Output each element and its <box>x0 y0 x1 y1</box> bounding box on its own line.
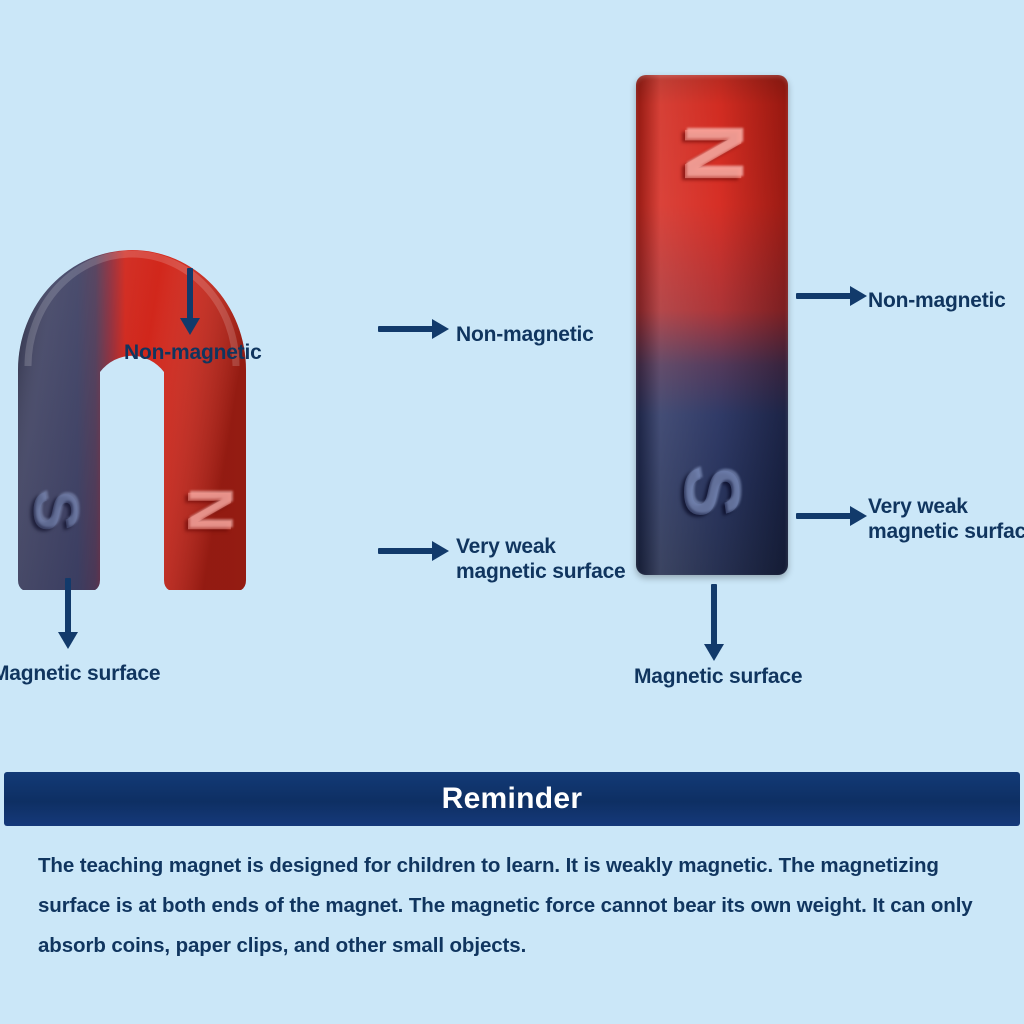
arrow-right-horseshoe-north-tip <box>378 540 450 562</box>
arrow-right-bar-upper <box>796 285 868 307</box>
label-horseshoe-inner-arch: Non-magnetic <box>124 340 262 365</box>
arrow-down-horseshoe-inner <box>170 268 210 336</box>
arrow-right-bar-lower <box>796 505 868 527</box>
horseshoe-south-letter: S <box>23 471 85 551</box>
label-bar-bottom: Magnetic surface <box>634 664 802 689</box>
arrow-down-bar-bottom <box>694 584 734 664</box>
label-horseshoe-north-tip: Very weak magnetic surface <box>456 534 626 584</box>
arrow-right-horseshoe-outer <box>378 318 450 340</box>
label-horseshoe-outer-side: Non-magnetic <box>456 322 594 347</box>
magnet-product-infographic: S N Non-magnetic Non-magnetic Very weak … <box>0 0 1024 1024</box>
reminder-body-text: The teaching magnet is designed for chil… <box>38 846 988 966</box>
bar-magnet-south-letter: S <box>673 434 751 550</box>
label-bar-side-lower: Very weak magnetic surface <box>868 494 1024 544</box>
horseshoe-magnet: S N <box>8 160 388 590</box>
label-bar-side-upper: Non-magnetic <box>868 288 1006 313</box>
horseshoe-north-letter: N <box>177 471 239 551</box>
reminder-header-bar: Reminder <box>4 772 1020 826</box>
label-horseshoe-south-tip: Magnetic surface <box>0 661 160 686</box>
reminder-title: Reminder <box>442 782 583 816</box>
bar-magnet: N S <box>636 75 788 575</box>
bar-magnet-north-letter: N <box>671 96 753 212</box>
arrow-down-horseshoe-south-tip <box>48 578 88 650</box>
